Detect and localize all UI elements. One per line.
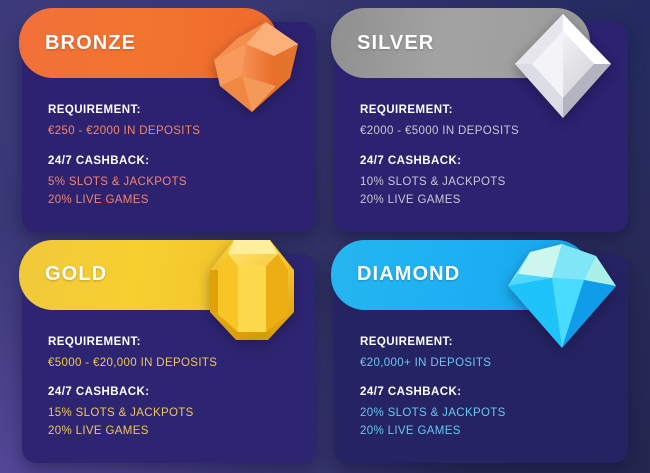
tier-card-diamond[interactable]: DIAMOND REQUIREMENT: (334, 254, 628, 464)
requirement-value: €250 - €2000 IN DEPOSITS (48, 123, 292, 141)
cashback-block-bronze: 24/7 CASHBACK: 5% SLOTS & JACKPOTS 20% L… (48, 155, 292, 210)
tier-card-silver[interactable]: SILVER REQUIREMENT: €2000 - €5000 (334, 22, 628, 232)
requirement-block-bronze: REQUIREMENT: €250 - €2000 IN DEPOSITS (48, 104, 292, 141)
requirement-label: REQUIREMENT: (48, 336, 292, 348)
cashback-label: 24/7 CASHBACK: (48, 155, 292, 167)
tier-title-diamond: DIAMOND (357, 263, 460, 286)
requirement-block-diamond: REQUIREMENT: €20,000+ IN DEPOSITS (360, 336, 604, 373)
requirement-value: €5000 - €20,000 IN DEPOSITS (48, 355, 292, 373)
tier-body-silver: REQUIREMENT: €2000 - €5000 IN DEPOSITS 2… (334, 88, 628, 209)
cashback-line-live: 20% LIVE GAMES (48, 423, 292, 441)
tier-banner-gold: GOLD (19, 240, 278, 310)
tier-banner-silver: SILVER (331, 8, 590, 78)
cashback-block-diamond: 24/7 CASHBACK: 20% SLOTS & JACKPOTS 20% … (360, 386, 604, 441)
requirement-label: REQUIREMENT: (360, 104, 604, 116)
cashback-label: 24/7 CASHBACK: (48, 386, 292, 398)
tier-body-diamond: REQUIREMENT: €20,000+ IN DEPOSITS 24/7 C… (334, 320, 628, 441)
cashback-line-slots: 15% SLOTS & JACKPOTS (48, 405, 292, 423)
tier-body-bronze: REQUIREMENT: €250 - €2000 IN DEPOSITS 24… (22, 88, 316, 209)
cashback-line-slots: 5% SLOTS & JACKPOTS (48, 174, 292, 192)
tier-title-silver: SILVER (357, 32, 434, 55)
cashback-line-live: 20% LIVE GAMES (360, 423, 604, 441)
requirement-label: REQUIREMENT: (360, 336, 604, 348)
tier-card-bronze[interactable]: BRONZE (22, 22, 316, 232)
requirement-value: €2000 - €5000 IN DEPOSITS (360, 123, 604, 141)
cashback-label: 24/7 CASHBACK: (360, 155, 604, 167)
cashback-line-live: 20% LIVE GAMES (48, 192, 292, 210)
cashback-line-slots: 20% SLOTS & JACKPOTS (360, 405, 604, 423)
requirement-value: €20,000+ IN DEPOSITS (360, 355, 604, 373)
cashback-block-silver: 24/7 CASHBACK: 10% SLOTS & JACKPOTS 20% … (360, 155, 604, 210)
tier-card-gold[interactable]: GOLD REQUIREMENT: €5000 - € (22, 254, 316, 464)
vip-tier-grid: BRONZE (0, 0, 650, 473)
tier-banner-diamond: DIAMOND (331, 240, 590, 310)
cashback-block-gold: 24/7 CASHBACK: 15% SLOTS & JACKPOTS 20% … (48, 386, 292, 441)
tier-body-gold: REQUIREMENT: €5000 - €20,000 IN DEPOSITS… (22, 320, 316, 441)
requirement-label: REQUIREMENT: (48, 104, 292, 116)
requirement-block-silver: REQUIREMENT: €2000 - €5000 IN DEPOSITS (360, 104, 604, 141)
requirement-block-gold: REQUIREMENT: €5000 - €20,000 IN DEPOSITS (48, 336, 292, 373)
tier-banner-bronze: BRONZE (19, 8, 278, 78)
cashback-label: 24/7 CASHBACK: (360, 386, 604, 398)
tier-title-bronze: BRONZE (45, 32, 136, 55)
tier-title-gold: GOLD (45, 263, 107, 286)
cashback-line-slots: 10% SLOTS & JACKPOTS (360, 174, 604, 192)
cashback-line-live: 20% LIVE GAMES (360, 192, 604, 210)
